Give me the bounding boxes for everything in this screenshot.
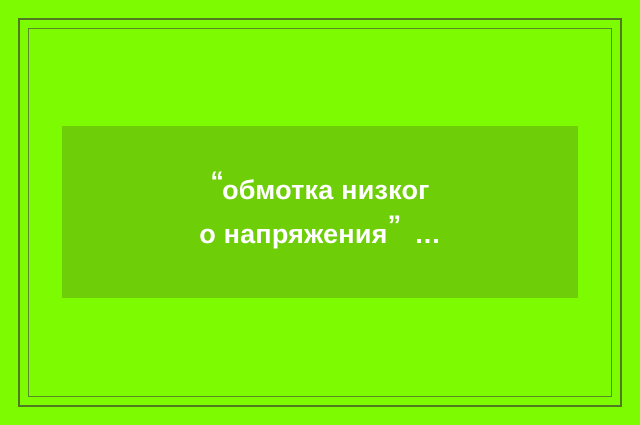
closing-quotation-mark: ” [388, 210, 402, 240]
quote-text-block: “обмотка низког о напряжения”... [199, 168, 441, 256]
quote-panel: “обмотка низког о напряжения”... [62, 126, 578, 298]
quote-line-2: о напряжения”... [199, 212, 441, 256]
quote-line-1: “обмотка низког [199, 168, 441, 212]
slide-canvas: “обмотка низког о напряжения”... [0, 0, 640, 425]
quote-line-1-text: обмотка низког [222, 175, 430, 205]
quote-line-2-text: о напряжения [199, 219, 387, 249]
trailing-ellipsis: ... [415, 219, 441, 249]
